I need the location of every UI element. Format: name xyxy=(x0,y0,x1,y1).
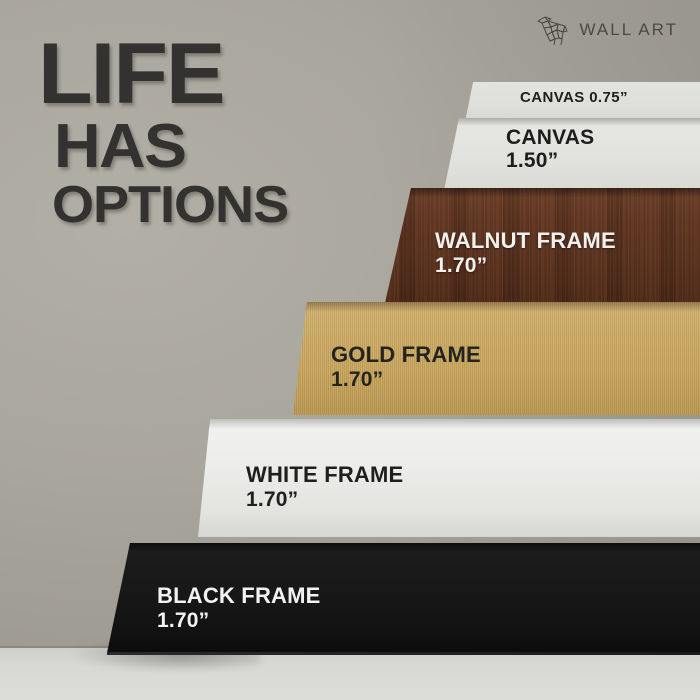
brand-logo: WALL ART xyxy=(534,14,678,46)
black-frame-title: BLACK FRAME xyxy=(157,585,321,607)
origami-goat-icon xyxy=(534,14,570,46)
canvas-150-label: CANVAS 1.50” xyxy=(506,127,594,172)
brand-name: WALL ART xyxy=(579,20,678,40)
black-frame-size: 1.70” xyxy=(157,610,321,631)
gold-frame-label: GOLD FRAME 1.70” xyxy=(331,344,481,391)
option-panel-gold-frame[interactable]: GOLD FRAME 1.70” xyxy=(293,302,700,415)
white-frame-title: WHITE FRAME xyxy=(246,464,403,486)
headline-line-2: HAS xyxy=(54,118,288,175)
headline-line-3: OPTIONS xyxy=(52,181,288,230)
black-frame-label: BLACK FRAME 1.70” xyxy=(157,585,321,632)
option-panel-canvas-150[interactable]: CANVAS 1.50” xyxy=(443,118,700,195)
product-options-poster: WALL ART LIFE HAS OPTIONS CANVAS 0.75” C… xyxy=(0,0,700,700)
walnut-frame-title: WALNUT FRAME xyxy=(435,230,616,252)
gold-frame-size: 1.70” xyxy=(331,369,481,390)
gold-frame-title: GOLD FRAME xyxy=(331,344,481,366)
white-frame-label: WHITE FRAME 1.70” xyxy=(246,464,403,511)
canvas-150-size: 1.50” xyxy=(506,150,594,171)
option-panel-canvas-075[interactable]: CANVAS 0.75” xyxy=(465,82,700,122)
white-frame-size: 1.70” xyxy=(246,489,403,510)
option-panel-black-frame[interactable]: BLACK FRAME 1.70” xyxy=(107,543,700,653)
option-panel-walnut-frame[interactable]: WALNUT FRAME 1.70” xyxy=(385,188,700,303)
canvas-150-title: CANVAS xyxy=(506,127,594,148)
walnut-frame-size: 1.70” xyxy=(435,255,616,276)
page-title: LIFE HAS OPTIONS xyxy=(38,38,279,230)
canvas-075-label: CANVAS 0.75” xyxy=(520,90,628,105)
option-panel-white-frame[interactable]: WHITE FRAME 1.70” xyxy=(198,419,700,537)
walnut-frame-label: WALNUT FRAME 1.70” xyxy=(435,230,616,277)
canvas-075-title: CANVAS 0.75” xyxy=(520,90,628,105)
headline-line-1: LIFE xyxy=(38,38,289,112)
